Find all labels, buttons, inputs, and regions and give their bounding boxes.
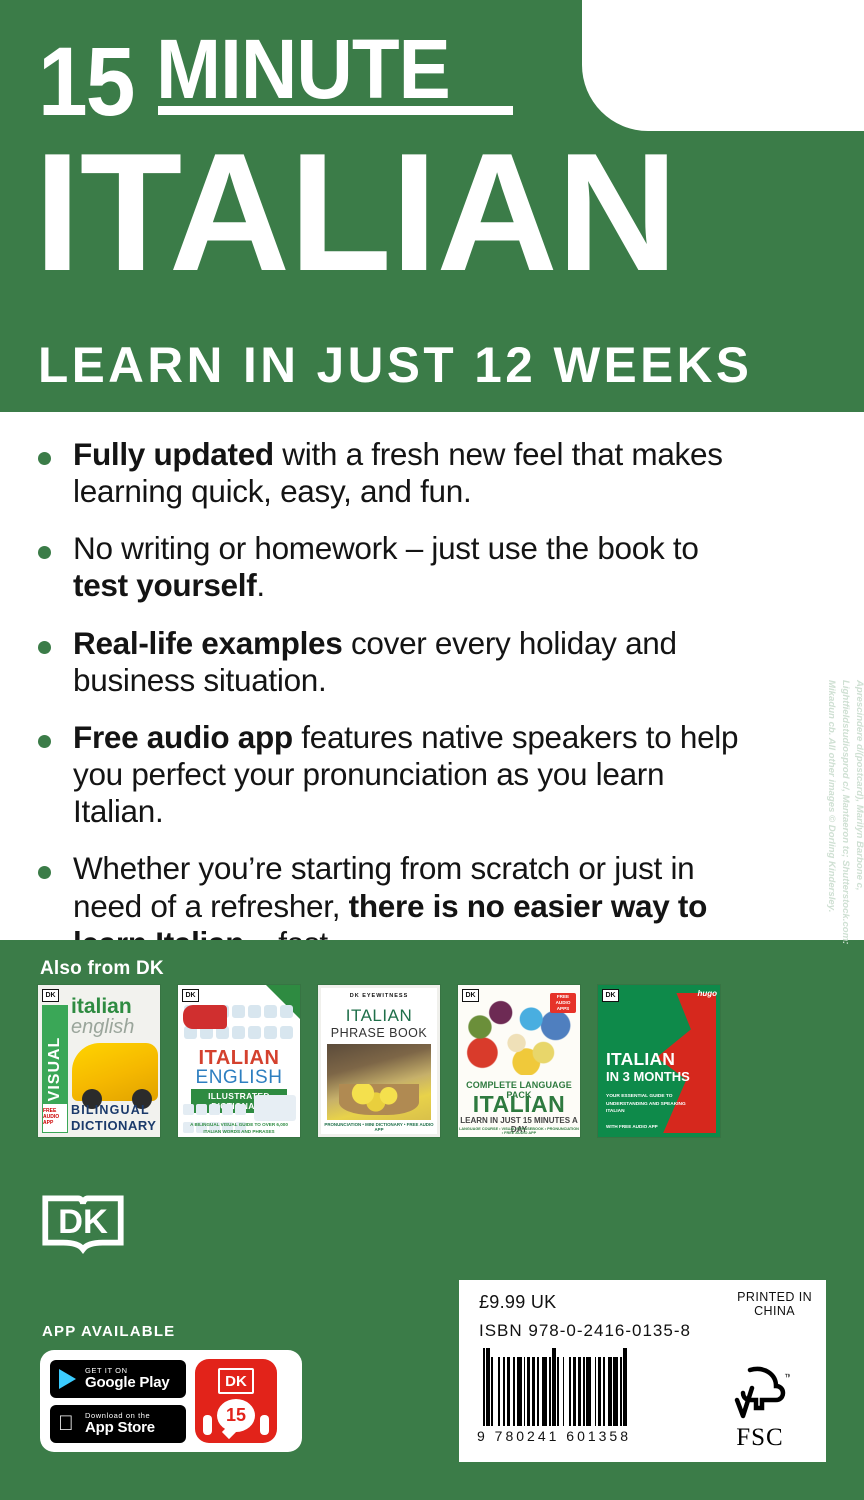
dk-publisher-badge: DK: [462, 989, 479, 1002]
book-title-line2: ITALIAN: [458, 1091, 580, 1118]
features-list: Fully updated with a fresh new feel that…: [38, 436, 824, 962]
book-thumb-italian-in-3-months[interactable]: DK hugo ITALIAN IN 3 MONTHS YOUR ESSENTI…: [598, 985, 720, 1137]
book-footer-line1: BILINGUAL: [71, 1103, 150, 1117]
car-illustration: [72, 1043, 158, 1101]
bullet-bold-tail: test yourself: [73, 567, 256, 603]
headphone-ear-right-icon: [260, 1415, 269, 1435]
isbn-label: ISBN 978-0-2416-0135-8: [479, 1321, 691, 1341]
bullet-bold-lead: Real-life examples: [73, 625, 343, 661]
printed-in-line2: CHINA: [737, 1304, 812, 1318]
book-title-line1: ITALIAN: [321, 1006, 437, 1026]
header-notch-shape: [582, 0, 864, 131]
google-play-button[interactable]: GET IT ON Google Play: [50, 1360, 186, 1398]
book-thumb-italian-phrase-book[interactable]: DK EYEWITNESS ITALIAN PHRASE BOOK PRONUN…: [318, 985, 440, 1137]
dk-publisher-badge: DK: [602, 989, 619, 1002]
title-minute-wrap: MINUTE: [156, 33, 472, 121]
app-store-big-text: App Store: [85, 1420, 155, 1436]
book-thumb-italian-english-illustrated-dictionary[interactable]: DK ITALIAN ENGLISH ILLUSTRATED DICTIONAR…: [178, 985, 300, 1137]
barcode-bars: [483, 1348, 693, 1426]
cover-image-credits: Cover images: Front: Dreamstime.com: Apr…: [824, 680, 864, 980]
bullet-rest: No writing or homework – just use the bo…: [73, 530, 699, 566]
google-play-icon: [58, 1368, 78, 1390]
book-footer: A BILINGUAL VISUAL GUIDE TO OVER 6,000 I…: [182, 1122, 296, 1135]
book-thumb-visual-italian-english[interactable]: DK VISUAL italian english BILINGUAL DICT…: [38, 985, 160, 1137]
book-title-line1: ITALIAN: [606, 1049, 675, 1070]
book-title-line2: english: [71, 1016, 134, 1039]
dk-logo-text: DK: [58, 1203, 108, 1241]
book-footer-line2: DICTIONARY: [71, 1118, 156, 1133]
apple-icon: : [58, 1413, 78, 1435]
bullet-text: Fully updated with a fresh new feel that…: [73, 436, 753, 510]
bullet-dot-icon: [38, 735, 51, 748]
dk-publisher-badge: DK: [42, 989, 59, 1002]
free-audio-apps-badge: FREE AUDIO APPS: [550, 993, 576, 1013]
also-from-dk-books: DK VISUAL italian english BILINGUAL DICT…: [38, 985, 720, 1137]
dk-audio-app-badge[interactable]: DK 15: [195, 1359, 277, 1443]
bullet-dot-icon: [38, 452, 51, 465]
dk-publisher-badge: DK: [182, 989, 199, 1002]
cover-header: 15 MINUTE ITALIAN LEARN IN JUST 12 WEEKS: [0, 0, 864, 412]
book-footer-line1: YOUR ESSENTIAL GUIDE TO UNDERSTANDING AN…: [606, 1093, 700, 1115]
bullet-dot-icon: [38, 546, 51, 559]
barcode-digits: 9 780241 601358: [477, 1428, 695, 1444]
book-title-line2: ENGLISH: [184, 1067, 294, 1089]
dk-publisher-badge: DK EYEWITNESS: [321, 993, 437, 999]
book-thumb-complete-language-pack-italian[interactable]: DK FREE AUDIO APPS COMPLETE LANGUAGE PAC…: [458, 985, 580, 1137]
google-play-label: GET IT ON Google Play: [85, 1367, 170, 1391]
title-subtitle: LEARN IN JUST 12 WEEKS: [38, 340, 752, 390]
printed-in-line1: PRINTED IN: [737, 1290, 812, 1304]
title-underline-rule: [158, 106, 513, 115]
book-title-line2: PHRASE BOOK: [321, 1026, 437, 1040]
bullet-tail-rest: .: [256, 567, 264, 603]
list-item: Free audio app features native speakers …: [38, 719, 824, 830]
dk-badge-text: DK: [218, 1368, 254, 1394]
book-footer: PRONUNCIATION • MINI DICTIONARY • FREE A…: [321, 1122, 437, 1132]
book-footer-line2: WITH FREE AUDIO APP: [606, 1124, 658, 1129]
google-play-big-text: Google Play: [85, 1375, 170, 1391]
bullet-text: Free audio app features native speakers …: [73, 719, 753, 830]
bullet-text: No writing or homework – just use the bo…: [73, 530, 753, 604]
title-language: ITALIAN: [34, 140, 864, 284]
bullet-bold-lead: Fully updated: [73, 436, 274, 472]
fsc-label: FSC: [716, 1424, 804, 1452]
store-buttons-column: GET IT ON Google Play  Download on the …: [50, 1360, 186, 1443]
book-footer: LANGUAGE COURSE • VISUAL PHRASEBOOK • PR…: [458, 1127, 580, 1135]
hugo-imprint-logo: hugo: [697, 989, 717, 998]
motorcycle-illustration: [183, 1005, 227, 1029]
fsc-logo: ™ FSC: [716, 1364, 804, 1452]
app-store-button[interactable]:  Download on the App Store: [50, 1405, 186, 1443]
title-number: 15: [38, 42, 134, 122]
app-badges-card: GET IT ON Google Play  Download on the …: [40, 1350, 302, 1452]
list-item: Real-life examples cover every holiday a…: [38, 625, 824, 699]
fsc-tm: ™: [784, 1372, 790, 1382]
features-panel: Fully updated with a fresh new feel that…: [0, 412, 864, 940]
book-back-cover: 15 MINUTE ITALIAN LEARN IN JUST 12 WEEKS…: [0, 0, 864, 1500]
printed-in-label: PRINTED IN CHINA: [737, 1290, 812, 1319]
lemons-photo: [327, 1044, 431, 1120]
barcode-block: £9.99 UK PRINTED IN CHINA ISBN 978-0-241…: [459, 1280, 826, 1462]
free-audio-app-badge: FREE AUDIO APP: [42, 1103, 68, 1133]
price-label: £9.99 UK: [479, 1292, 556, 1313]
title-15-minute: 15 MINUTE: [38, 33, 472, 121]
book-title-line2: IN 3 MONTHS: [606, 1069, 690, 1084]
app-store-label: Download on the App Store: [85, 1412, 155, 1436]
bullet-bold-lead: Free audio app: [73, 719, 293, 755]
also-from-dk-label: Also from DK: [40, 958, 164, 980]
speech-bubble-15: 15: [217, 1399, 255, 1432]
app-available-label: APP AVAILABLE: [42, 1323, 175, 1340]
headphone-ear-left-icon: [203, 1415, 212, 1435]
book-spine-text: VISUAL: [46, 1037, 64, 1102]
bullet-dot-icon: [38, 866, 51, 879]
dk-logo: DK: [42, 1190, 124, 1256]
title-minute: MINUTE: [156, 33, 450, 105]
bullet-dot-icon: [38, 641, 51, 654]
list-item: Fully updated with a fresh new feel that…: [38, 436, 824, 510]
bullet-text: Real-life examples cover every holiday a…: [73, 625, 753, 699]
list-item: No writing or homework – just use the bo…: [38, 530, 824, 604]
product-pack-illustration: [254, 1095, 296, 1121]
